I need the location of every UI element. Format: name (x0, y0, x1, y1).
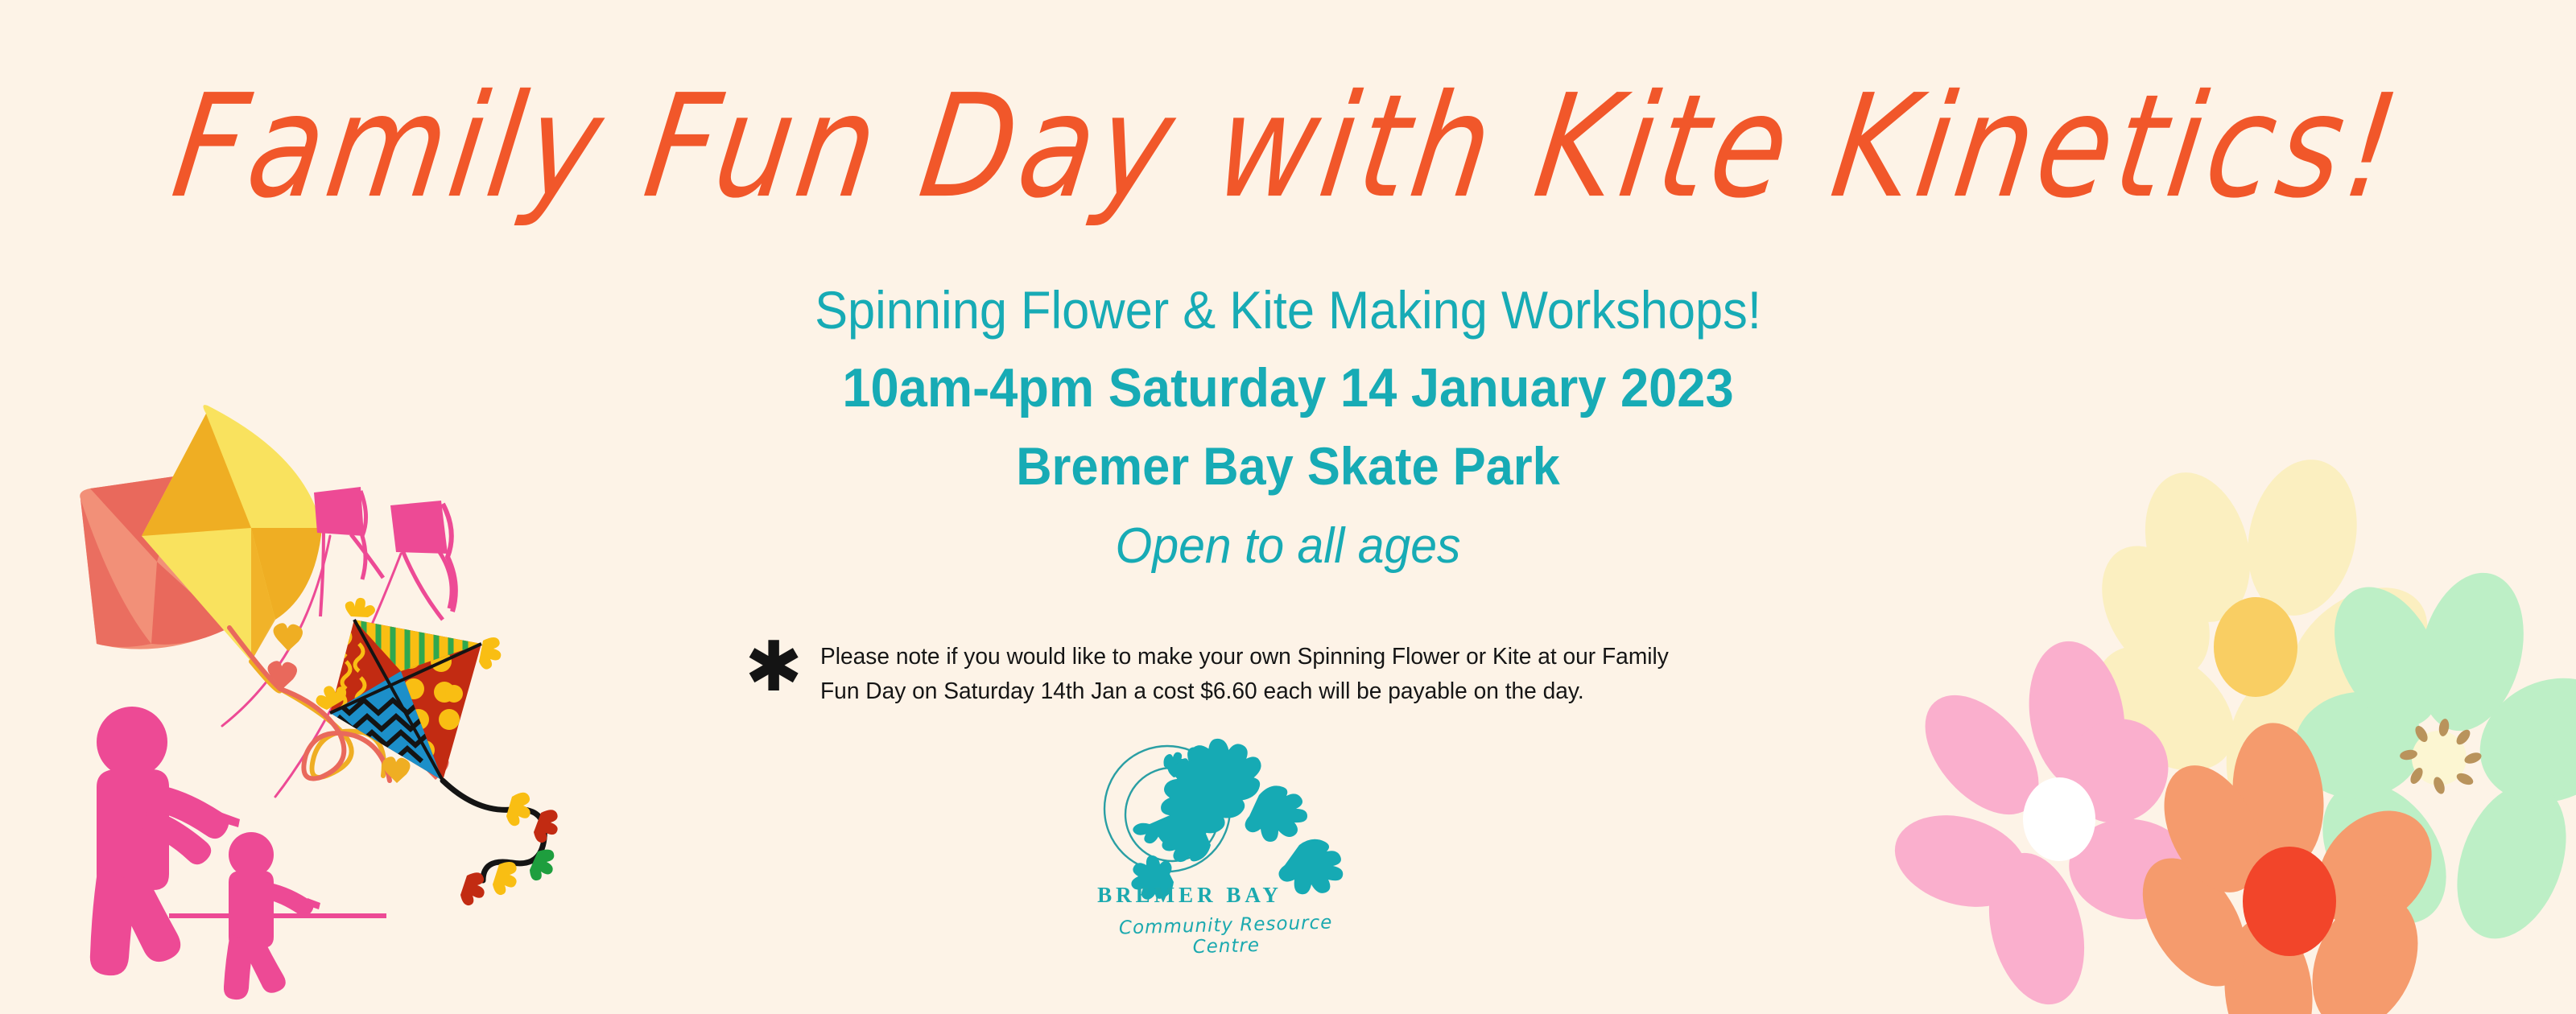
flower-cream (2073, 449, 2451, 842)
flower-orange-center (2243, 847, 2336, 956)
diamond-kite-patterned (316, 598, 558, 905)
flower-pink (1884, 633, 2201, 1014)
poster-canvas: Family Fun Day with Kite Kinetics! Spinn… (0, 0, 2576, 1006)
audience-line: Open to all ages (64, 521, 2512, 571)
footnote-line-2: Fun Day on Saturday 14th Jan a cost $6.6… (820, 674, 1669, 709)
workshops-line: Spinning Flower & Kite Making Workshops! (90, 283, 2486, 336)
child-figure-pink (224, 832, 320, 1000)
logo-name-text: BREMER BAY (1085, 883, 1294, 908)
page-title: Family Fun Day with Kite Kinetics! (0, 76, 2576, 219)
datetime-line: 10am-4pm Saturday 14 January 2023 (90, 361, 2486, 415)
venue-line: Bremer Bay Skate Park (90, 439, 2486, 493)
flower-mint (2289, 562, 2576, 954)
adult-figure-pink (90, 707, 240, 975)
leafy-seadragon-icon (1131, 739, 1343, 900)
logo-tagline-text: Community Resource Centre (1092, 912, 1359, 961)
footnote: ✱ Please note if you would like to make … (745, 640, 1759, 709)
flower-orange (2121, 719, 2454, 1014)
footnote-text: Please note if you would like to make yo… (820, 640, 1669, 709)
bremer-bay-crc-logo: BREMER BAY Community Resource Centre (1061, 724, 1407, 966)
flower-pink-center (2023, 777, 2095, 861)
footnote-line-1: Please note if you would like to make yo… (820, 640, 1669, 674)
string-heart-decor (267, 623, 448, 783)
flower-mint-stamens (2399, 718, 2483, 795)
asterisk-icon: ✱ (745, 643, 803, 693)
flower-cream-center (2214, 597, 2297, 697)
